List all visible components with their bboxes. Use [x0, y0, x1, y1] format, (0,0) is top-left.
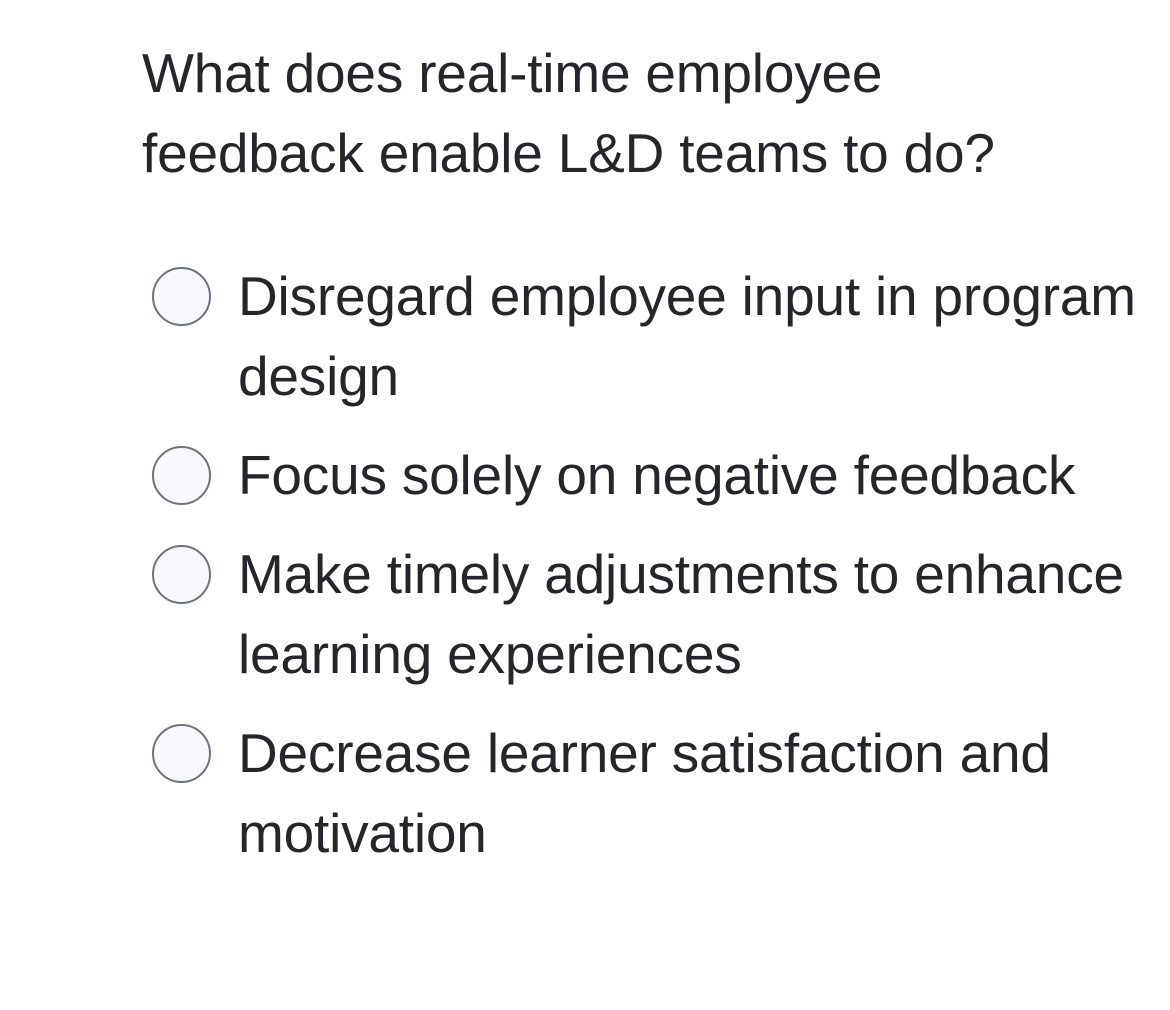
answer-option-d[interactable]: Decrease learner satisfaction and motiva… [152, 713, 1152, 873]
radio-unselected-icon[interactable] [152, 724, 211, 783]
question-text: What does real-time employee feedback en… [142, 33, 1042, 193]
answer-option-a[interactable]: Disregard employee input in program desi… [152, 256, 1152, 416]
answer-option-c[interactable]: Make timely adjustments to enhance learn… [152, 534, 1152, 694]
answer-option-d-label[interactable]: Decrease learner satisfaction and motiva… [238, 713, 1152, 873]
radio-unselected-icon[interactable] [152, 545, 211, 604]
answer-option-a-label[interactable]: Disregard employee input in program desi… [238, 256, 1152, 416]
answer-options-list: Disregard employee input in program desi… [152, 256, 1152, 873]
answer-option-b[interactable]: Focus solely on negative feedback [152, 435, 1152, 515]
answer-option-c-label[interactable]: Make timely adjustments to enhance learn… [238, 534, 1152, 694]
answer-option-b-label[interactable]: Focus solely on negative feedback [238, 435, 1152, 515]
radio-unselected-icon[interactable] [152, 267, 211, 326]
quiz-question-card: What does real-time employee feedback en… [0, 0, 1170, 1010]
radio-unselected-icon[interactable] [152, 446, 211, 505]
